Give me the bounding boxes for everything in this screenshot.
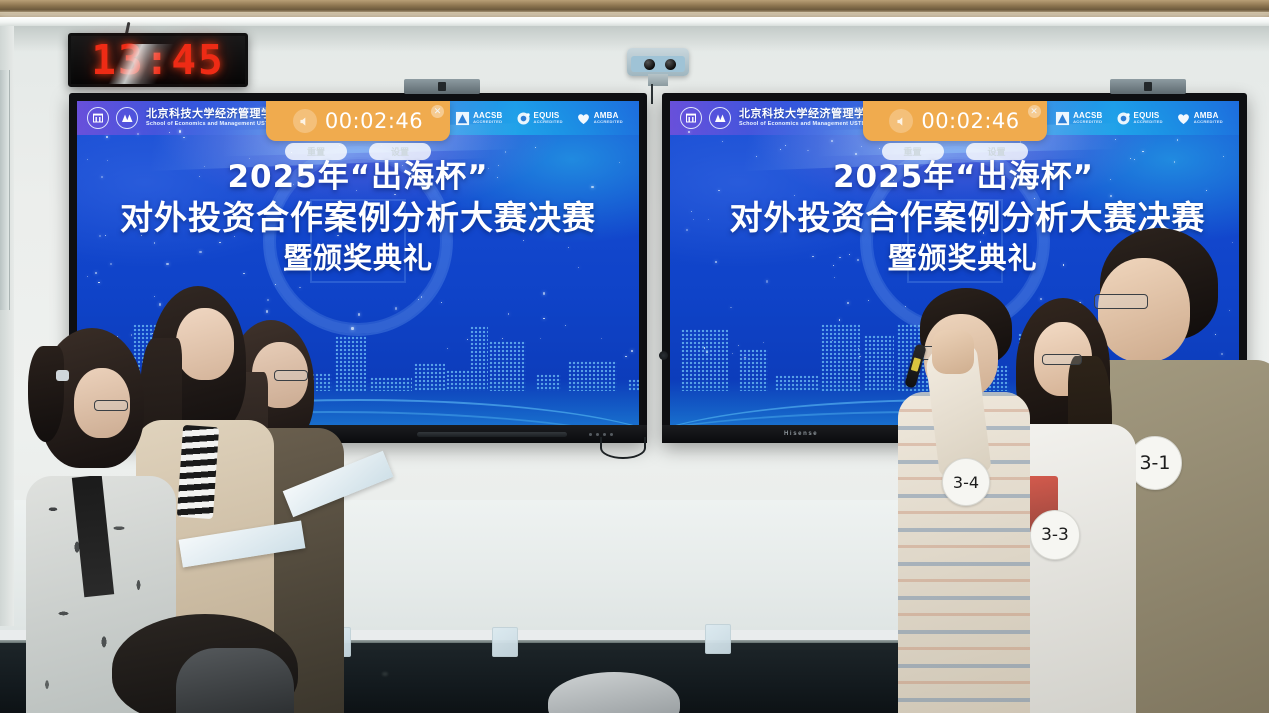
hand — [932, 330, 974, 374]
close-icon[interactable]: ✕ — [1028, 105, 1041, 118]
school-name-en: School of Economics and Management USTB — [146, 121, 284, 127]
glasses — [94, 400, 128, 411]
display-right-top-device — [1110, 79, 1186, 94]
wall-switch-plate-3[interactable] — [705, 624, 731, 654]
amba-sub: ACCREDITED — [1194, 120, 1223, 124]
aacsb-sub: ACCREDITED — [1073, 120, 1102, 124]
timer-settings-button[interactable]: 设置 — [966, 143, 1028, 160]
slide-title-line1: 2025年“出海杯” — [77, 159, 639, 197]
classroom-scene: 13:45 — [0, 0, 1269, 713]
timer-buttons-right: 重置 设置 — [882, 143, 1028, 160]
striped-inner-top — [177, 425, 219, 519]
school-emblem-icon — [116, 107, 138, 129]
equis-icon — [516, 111, 531, 126]
slide-title-left: 2025年“出海杯” 对外投资合作案例分析大赛决赛 暨颁奖典礼 — [77, 159, 639, 279]
speaker-icon[interactable] — [293, 109, 317, 133]
timer-reset-button[interactable]: 重置 — [285, 143, 347, 160]
timer-value: 00:02:46 — [921, 109, 1019, 133]
camera-wire — [651, 84, 653, 104]
slide-title-line2: 对外投资合作案例分析大赛决赛 — [77, 197, 639, 239]
microphone-label — [911, 357, 921, 371]
accreditation-equis: EQUIS ACCREDITED — [516, 111, 563, 126]
display-right-brand: Hisense — [784, 431, 818, 437]
camera-lens-band — [631, 56, 685, 72]
presentation-timer-left[interactable]: 00:02:46 ✕ — [266, 101, 450, 141]
amba-icon — [1176, 111, 1191, 126]
school-name-en: School of Economics and Management USTB — [739, 121, 877, 127]
school-name-block: 北京科技大学经济管理学院 School of Economics and Man… — [739, 109, 877, 127]
led-wall-clock: 13:45 — [68, 33, 248, 87]
contestant-badge: 3-4 — [942, 458, 990, 506]
equis-icon — [1116, 111, 1131, 126]
school-name-block: 北京科技大学经济管理学院 School of Economics and Man… — [146, 109, 284, 127]
school-name-cn: 北京科技大学经济管理学院 — [739, 109, 877, 121]
display-left-control-keys[interactable] — [589, 433, 613, 436]
display-left-cable — [600, 437, 646, 459]
glasses — [274, 370, 308, 381]
slide-title-line1: 2025年“出海杯” — [688, 159, 1239, 197]
aacsb-icon — [1055, 111, 1070, 126]
wall-switch-plate-2[interactable] — [492, 627, 518, 657]
slide-title-line3: 暨颁奖典礼 — [77, 238, 639, 279]
speaker-icon[interactable] — [889, 109, 913, 133]
close-icon[interactable]: ✕ — [431, 105, 444, 118]
timer-buttons-left: 重置 设置 — [285, 143, 431, 160]
ceiling-light-strip — [0, 17, 1269, 26]
display-left-top-device — [404, 79, 480, 94]
display-right-speaker — [659, 351, 668, 360]
equis-sub: ACCREDITED — [534, 120, 563, 124]
school-emblem-icon — [709, 107, 731, 129]
university-crest-icon — [680, 107, 702, 129]
hair-ponytail — [28, 346, 64, 442]
accreditation-amba: AMBA ACCREDITED — [576, 111, 623, 126]
accreditation-aacsb: AACSB ACCREDITED — [455, 111, 502, 126]
wall-scuff-1 — [382, 672, 388, 676]
hair-clip — [56, 370, 69, 381]
accreditation-badges-left: AACSB ACCREDITED EQUIS ACCREDITED — [455, 111, 629, 126]
accreditation-badges-right: AACSB ACCREDITED EQUIS ACCREDITED — [1055, 111, 1229, 126]
aacsb-sub: ACCREDITED — [473, 120, 502, 124]
whiteboard-edge — [0, 70, 10, 310]
glasses — [1042, 354, 1082, 365]
camera-lens-left-icon — [644, 59, 655, 70]
timer-value: 00:02:46 — [325, 109, 423, 133]
accreditation-aacsb: AACSB ACCREDITED — [1055, 111, 1102, 126]
display-left-vent — [417, 432, 567, 437]
accreditation-equis: EQUIS ACCREDITED — [1116, 111, 1163, 126]
contestant-badge: 3-3 — [1030, 510, 1080, 560]
amba-sub: ACCREDITED — [594, 120, 623, 124]
head — [176, 308, 234, 380]
equis-sub: ACCREDITED — [1134, 120, 1163, 124]
audience-shoulder-left — [176, 648, 294, 713]
camera-lens-right-icon — [665, 59, 676, 70]
timer-reset-button[interactable]: 重置 — [882, 143, 944, 160]
accreditation-amba: AMBA ACCREDITED — [1176, 111, 1223, 126]
person-student-3-3: 3-3 — [1012, 298, 1132, 713]
university-crest-icon — [87, 107, 109, 129]
timer-settings-button[interactable]: 设置 — [369, 143, 431, 160]
clock-time-readout: 13:45 — [91, 40, 224, 81]
contestant-badge: 3-1 — [1128, 436, 1182, 490]
school-name-cn: 北京科技大学经济管理学院 — [146, 109, 284, 121]
aacsb-icon — [455, 111, 470, 126]
amba-icon — [576, 111, 591, 126]
presentation-timer-right[interactable]: 00:02:46 ✕ — [863, 101, 1047, 141]
person-student-3-4: 3-4 — [898, 288, 1028, 713]
